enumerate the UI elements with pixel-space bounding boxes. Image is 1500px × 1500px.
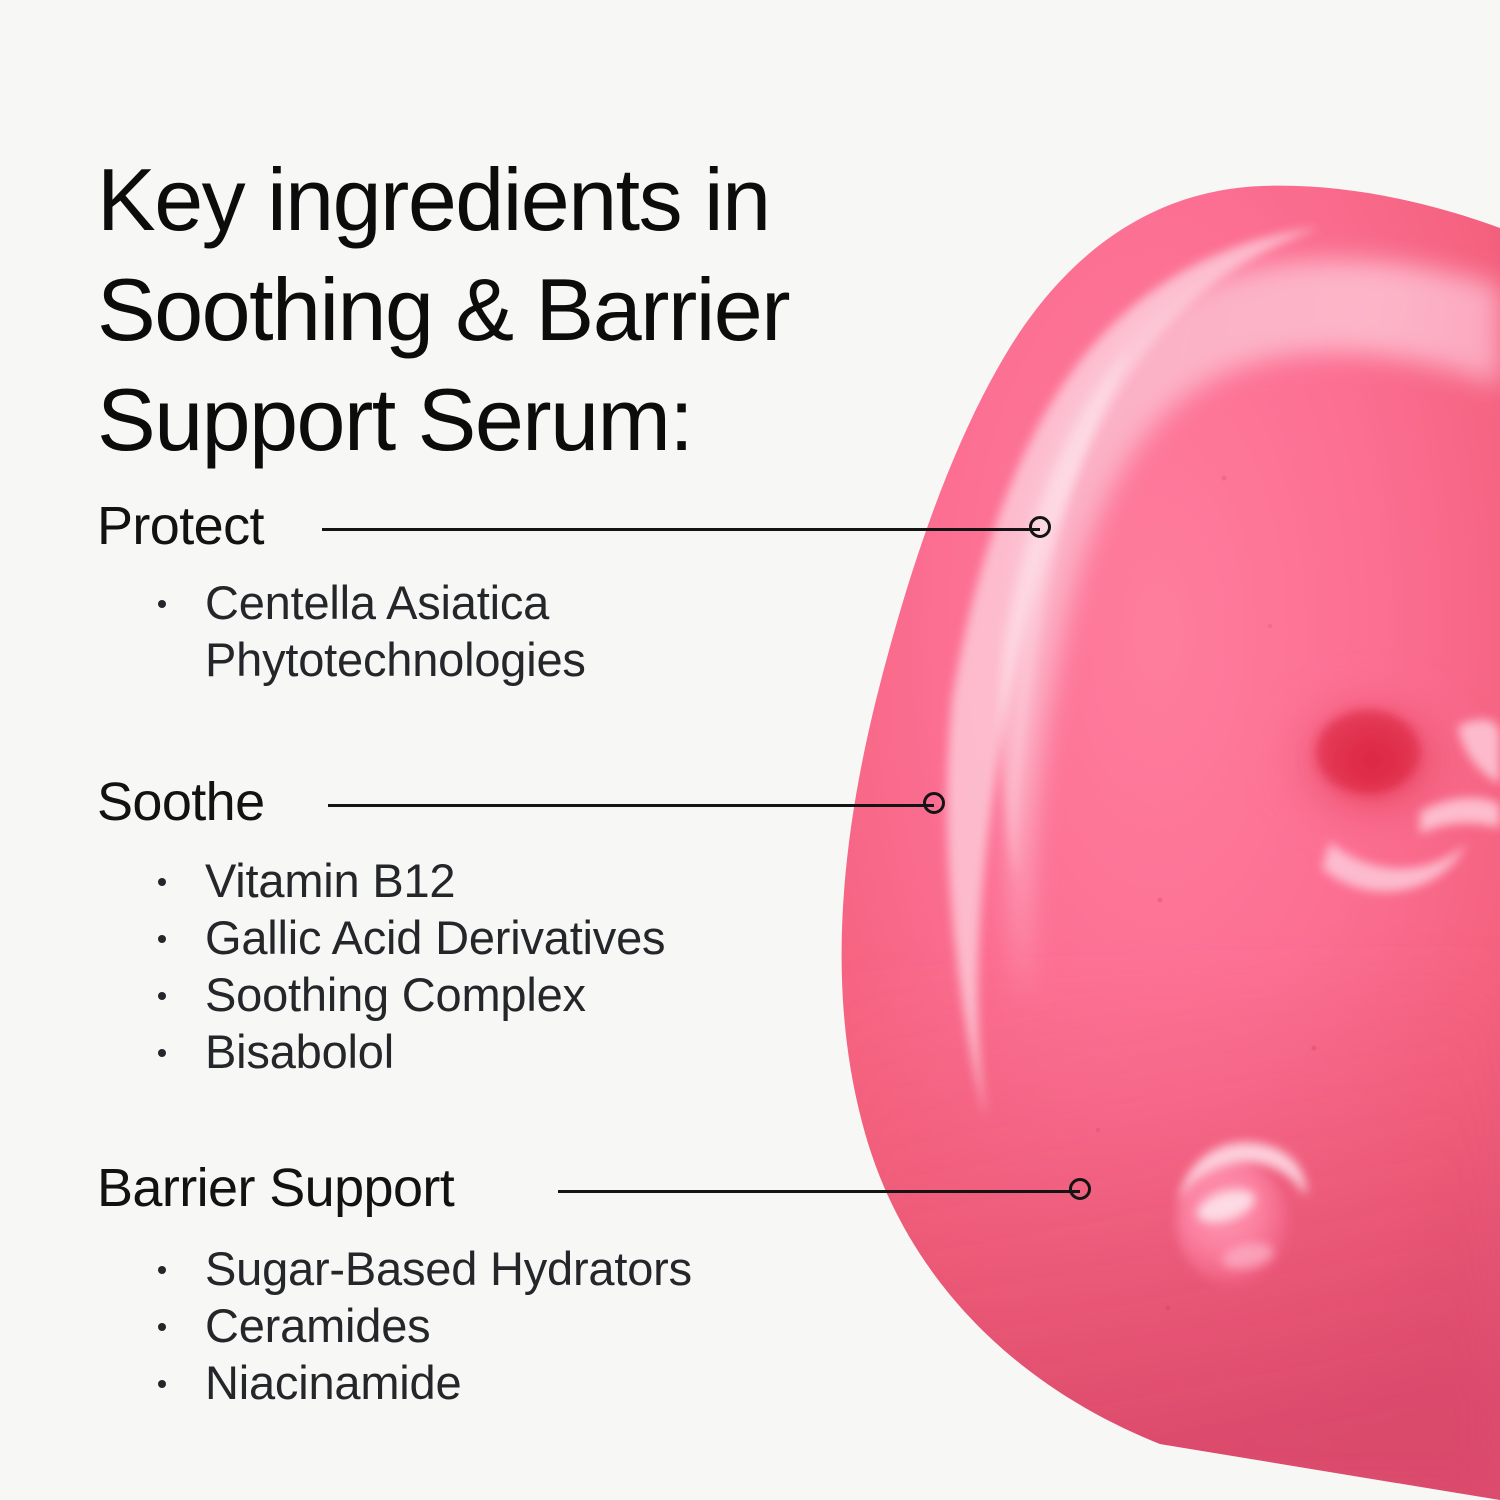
list-item: Vitamin B12 (125, 852, 665, 909)
section-soothe: Soothe Vitamin B12 Gallic Acid Derivativ… (97, 772, 1197, 834)
leader-dot-barrier (1069, 1178, 1091, 1200)
list-item: Bisabolol (125, 1023, 665, 1080)
list-item: Centella Asiatica Phytotechnologies (125, 574, 586, 688)
ingredient-label: Gallic Acid Derivatives (205, 911, 665, 964)
list-item: Sugar-Based Hydrators (125, 1240, 692, 1297)
leader-dot-soothe (923, 792, 945, 814)
section-head-soothe: Soothe (97, 772, 1197, 834)
leader-dot-protect (1029, 516, 1051, 538)
bullet-dot-icon (158, 878, 166, 886)
bullet-dot-icon (158, 992, 166, 1000)
ingredient-label: Sugar-Based Hydrators (205, 1242, 692, 1295)
ingredient-infographic: Key ingredients in Soothing & Barrier Su… (0, 0, 1500, 1500)
section-title-soothe: Soothe (97, 772, 265, 832)
bullet-dot-icon (158, 1380, 166, 1388)
bullet-dot-icon (158, 1049, 166, 1057)
page-title: Key ingredients in Soothing & Barrier Su… (97, 145, 977, 475)
ingredient-list-soothe: Vitamin B12 Gallic Acid Derivatives Soot… (125, 852, 665, 1080)
section-head-barrier: Barrier Support (97, 1158, 1197, 1220)
list-item: Ceramides (125, 1297, 692, 1354)
leader-line-protect (322, 528, 1040, 531)
ingredient-label: Vitamin B12 (205, 854, 455, 907)
list-item: Niacinamide (125, 1354, 692, 1411)
ingredient-label: Niacinamide (205, 1356, 461, 1409)
bullet-dot-icon (158, 1323, 166, 1331)
bullet-dot-icon (158, 935, 166, 943)
leader-line-barrier (558, 1190, 1080, 1193)
bullet-dot-icon (158, 1266, 166, 1274)
list-item: Gallic Acid Derivatives (125, 909, 665, 966)
ingredient-list-barrier: Sugar-Based Hydrators Ceramides Niacinam… (125, 1240, 692, 1411)
list-item: Soothing Complex (125, 966, 665, 1023)
ingredient-label: Ceramides (205, 1299, 430, 1352)
ingredient-label: Soothing Complex (205, 968, 586, 1021)
section-head-protect: Protect (97, 496, 1197, 558)
section-title-protect: Protect (97, 496, 264, 556)
section-title-barrier: Barrier Support (97, 1158, 454, 1218)
ingredient-list-protect: Centella Asiatica Phytotechnologies (125, 574, 586, 688)
ingredient-label: Bisabolol (205, 1025, 394, 1078)
bullet-dot-icon (158, 600, 166, 608)
leader-line-soothe (328, 804, 934, 807)
section-protect: Protect Centella Asiatica Phytotechnolog… (97, 496, 1197, 558)
ingredient-label: Centella Asiatica Phytotechnologies (205, 576, 586, 686)
section-barrier: Barrier Support Sugar-Based Hydrators Ce… (97, 1158, 1197, 1220)
